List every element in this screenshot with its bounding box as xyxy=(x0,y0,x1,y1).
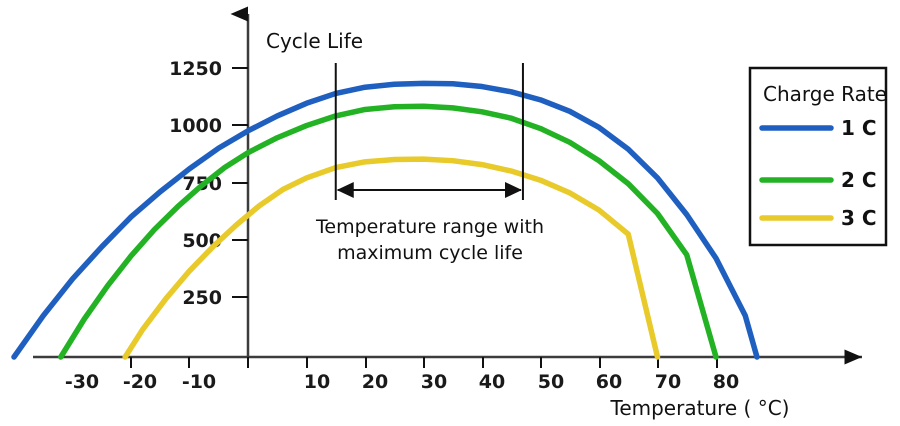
annotation-line-1: Temperature range with xyxy=(315,216,544,238)
y-tick-label-1250: 1250 xyxy=(169,58,222,80)
x-tick-label-50: 50 xyxy=(538,371,564,393)
x-tick-label-40: 40 xyxy=(479,371,505,393)
x-tick-label-80: 80 xyxy=(713,371,739,393)
x-tick-label-10: 10 xyxy=(304,371,330,393)
x-axis-ticks xyxy=(131,357,717,368)
legend: Charge Rate 1 C 2 C 3 C xyxy=(750,68,887,245)
x-tick-label-60: 60 xyxy=(596,371,622,393)
y-tick-label-250: 250 xyxy=(182,287,222,309)
legend-title: Charge Rate xyxy=(763,82,887,106)
cycle-life-vs-temperature-chart: -30 -20 -10 10 20 30 40 50 60 70 80 Temp… xyxy=(0,0,900,426)
x-tick-label-30: 30 xyxy=(421,371,447,393)
annotation-line-2: maximum cycle life xyxy=(337,242,523,264)
y-axis-ticks xyxy=(232,68,248,297)
legend-label-1c: 1 C xyxy=(841,116,877,140)
x-tick-label-20: 20 xyxy=(362,371,388,393)
x-tick-label-n10: -10 xyxy=(182,371,216,393)
y-tick-label-1000: 1000 xyxy=(169,115,222,137)
x-tick-label-70: 70 xyxy=(655,371,681,393)
legend-label-3c: 3 C xyxy=(841,206,877,230)
x-axis-title: Temperature ( °C) xyxy=(610,396,790,420)
y-axis-title: Cycle Life xyxy=(266,29,363,53)
legend-label-2c: 2 C xyxy=(841,168,877,192)
chart-canvas: -30 -20 -10 10 20 30 40 50 60 70 80 Temp… xyxy=(0,0,900,426)
x-tick-label-n20: -20 xyxy=(123,371,157,393)
x-axis: -30 -20 -10 10 20 30 40 50 60 70 80 Temp… xyxy=(33,357,862,420)
x-tick-label-n30: -30 xyxy=(65,371,99,393)
